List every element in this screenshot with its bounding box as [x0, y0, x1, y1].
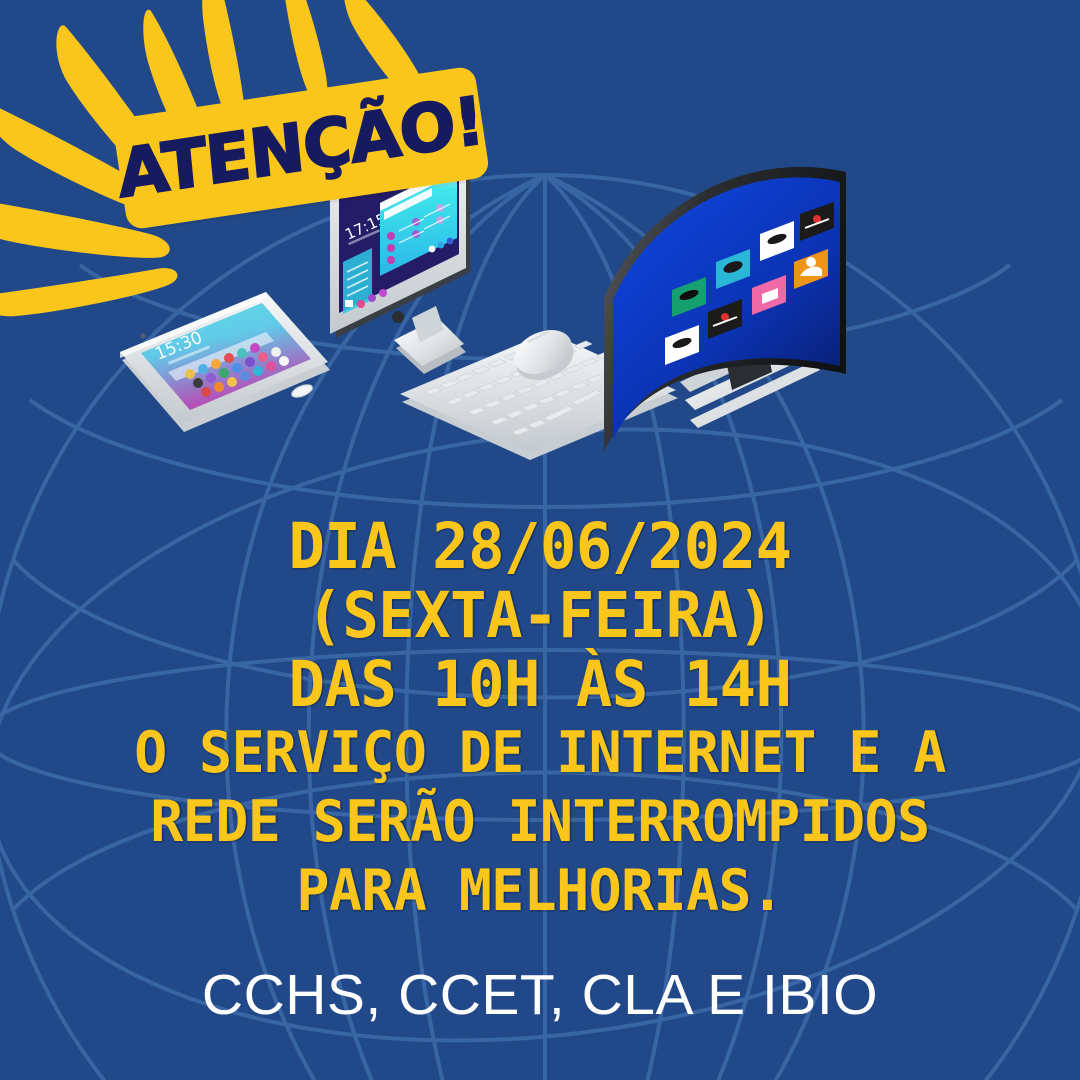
departments-subline: CCHS, CCET, CLA E IBIO	[0, 962, 1080, 1028]
headline-line-4: O SERVIÇO DE INTERNET E A	[22, 719, 1059, 788]
headline-line-6: PARA MELHORIAS.	[22, 857, 1059, 926]
headline-line-1: DIA 28/06/2024	[22, 512, 1059, 581]
headline-line-2: (SEXTA-FEIRA)	[22, 581, 1059, 650]
headline-line-5: REDE SERÃO INTERROMPIDOS	[22, 788, 1059, 857]
headline-block: DIA 28/06/2024 (SEXTA-FEIRA) DAS 10H ÀS …	[0, 512, 1080, 926]
headline-line-3: DAS 10H ÀS 14H	[22, 650, 1059, 719]
notice-poster: 15:30	[0, 0, 1080, 1080]
